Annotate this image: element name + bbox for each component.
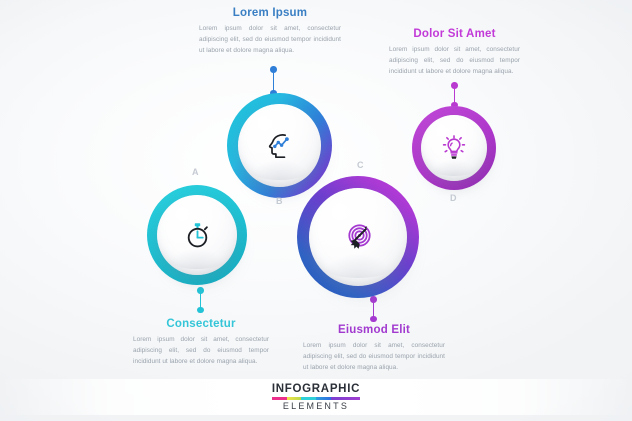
target-arrow-icon — [338, 217, 378, 257]
text-block-consectetur: Consectetur Lorem ipsum dolor sit amet, … — [133, 318, 269, 367]
logo-bar-backdrop: INFOGRAPHIC ELEMENTS — [0, 379, 632, 415]
node-face — [157, 195, 237, 275]
node-letter-d: D — [450, 193, 457, 203]
text-block-eiusmod-elit: Eiusmod Elit Lorem ipsum dolor sit amet,… — [303, 324, 445, 373]
text-block-title: Dolor Sit Amet — [389, 28, 520, 40]
node-a[interactable]: A — [147, 185, 247, 285]
text-block-title: Eiusmod Elit — [303, 324, 445, 336]
text-block-body: Lorem ipsum dolor sit amet, consectetur … — [199, 23, 341, 56]
text-block-dolor-sit-amet: Dolor Sit Amet Lorem ipsum dolor sit ame… — [389, 28, 520, 77]
node-d[interactable]: D — [412, 106, 496, 190]
logo-title: INFOGRAPHIC — [272, 383, 360, 395]
text-block-body: Lorem ipsum dolor sit amet, consectetur … — [133, 334, 269, 367]
lightbulb-icon — [439, 133, 469, 163]
text-block-body: Lorem ipsum dolor sit amet, consectetur … — [303, 340, 445, 373]
logo-color-bar — [272, 397, 360, 400]
infographic-canvas: Lorem Ipsum Lorem ipsum dolor sit amet, … — [0, 0, 632, 421]
connector-d — [451, 82, 458, 108]
node-face — [238, 104, 321, 187]
node-face — [309, 188, 407, 286]
connector-dot-bottom — [370, 316, 377, 323]
text-block-body: Lorem ipsum dolor sit amet, consectetur … — [389, 44, 520, 77]
node-letter-b: B — [276, 196, 283, 206]
logo-subtitle: ELEMENTS — [272, 401, 360, 411]
text-block-title: Lorem Ipsum — [199, 7, 341, 19]
logo: INFOGRAPHIC ELEMENTS — [272, 383, 360, 411]
text-block-title: Consectetur — [133, 318, 269, 330]
connector-dot-bottom — [197, 307, 204, 314]
connector-line — [454, 89, 455, 102]
node-b[interactable]: B — [227, 93, 332, 198]
node-c[interactable]: C — [297, 176, 419, 298]
text-block-lorem-ipsum: Lorem Ipsum Lorem ipsum dolor sit amet, … — [199, 7, 341, 56]
node-face — [421, 115, 487, 181]
node-letter-c: C — [357, 160, 364, 170]
connector-line — [273, 73, 274, 90]
stopwatch-icon — [182, 220, 213, 251]
node-letter-a: A — [192, 167, 199, 177]
connector-b — [270, 66, 277, 96]
head-chart-icon — [263, 129, 297, 163]
